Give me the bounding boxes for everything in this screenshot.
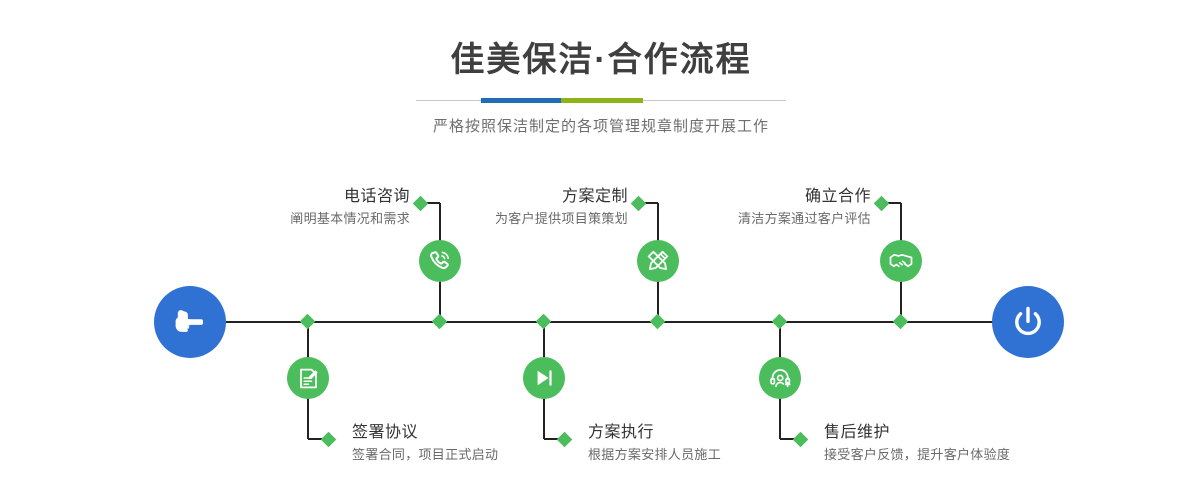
step-2-icon-badge[interactable] [287, 357, 329, 399]
play-execute-icon [532, 366, 556, 390]
step-6-axis-diamond [772, 314, 788, 330]
timeline-end-endpoint [992, 286, 1064, 358]
document-edit-icon [296, 366, 321, 391]
step-6-labels: 售后维护 接受客户反馈，提升客户体验度 [824, 422, 1184, 466]
phone-call-icon [427, 248, 453, 274]
handshake-icon [888, 248, 914, 274]
step-6-desc: 接受客户反馈，提升客户体验度 [824, 444, 1184, 466]
cooperation-process-infographic: 佳美保洁·合作流程 严格按照保洁制定的各项管理规章制度开展工作 [0, 0, 1202, 502]
step-6-icon-badge[interactable] [759, 357, 801, 399]
pointing-hand-icon [170, 302, 210, 342]
step-1-axis-diamond [432, 314, 448, 330]
pencil-ruler-icon [645, 248, 671, 274]
step-5-diamond [874, 196, 890, 212]
step-5-title: 确立合作 [518, 186, 871, 208]
step-2-axis-diamond [300, 314, 316, 330]
headset-support-icon [768, 366, 793, 391]
timeline-axis [160, 321, 1042, 323]
step-3-icon-badge[interactable] [637, 240, 679, 282]
power-icon [1007, 301, 1049, 343]
step-1-icon-badge[interactable] [419, 240, 461, 282]
step-5-icon-badge[interactable] [880, 240, 922, 282]
timeline-start-endpoint [154, 286, 226, 358]
process-timeline: 电话咨询 阐明基本情况和需求 [0, 0, 1202, 502]
step-5-labels: 确立合作 清洁方案通过客户评估 [518, 186, 871, 230]
step-3-axis-diamond [650, 314, 666, 330]
step-2-diamond [321, 432, 337, 448]
step-5-desc: 清洁方案通过客户评估 [518, 208, 871, 230]
step-4-icon-badge[interactable] [523, 357, 565, 399]
step-6-title: 售后维护 [824, 422, 1184, 444]
step-5-axis-diamond [893, 314, 909, 330]
step-4-axis-diamond [536, 314, 552, 330]
